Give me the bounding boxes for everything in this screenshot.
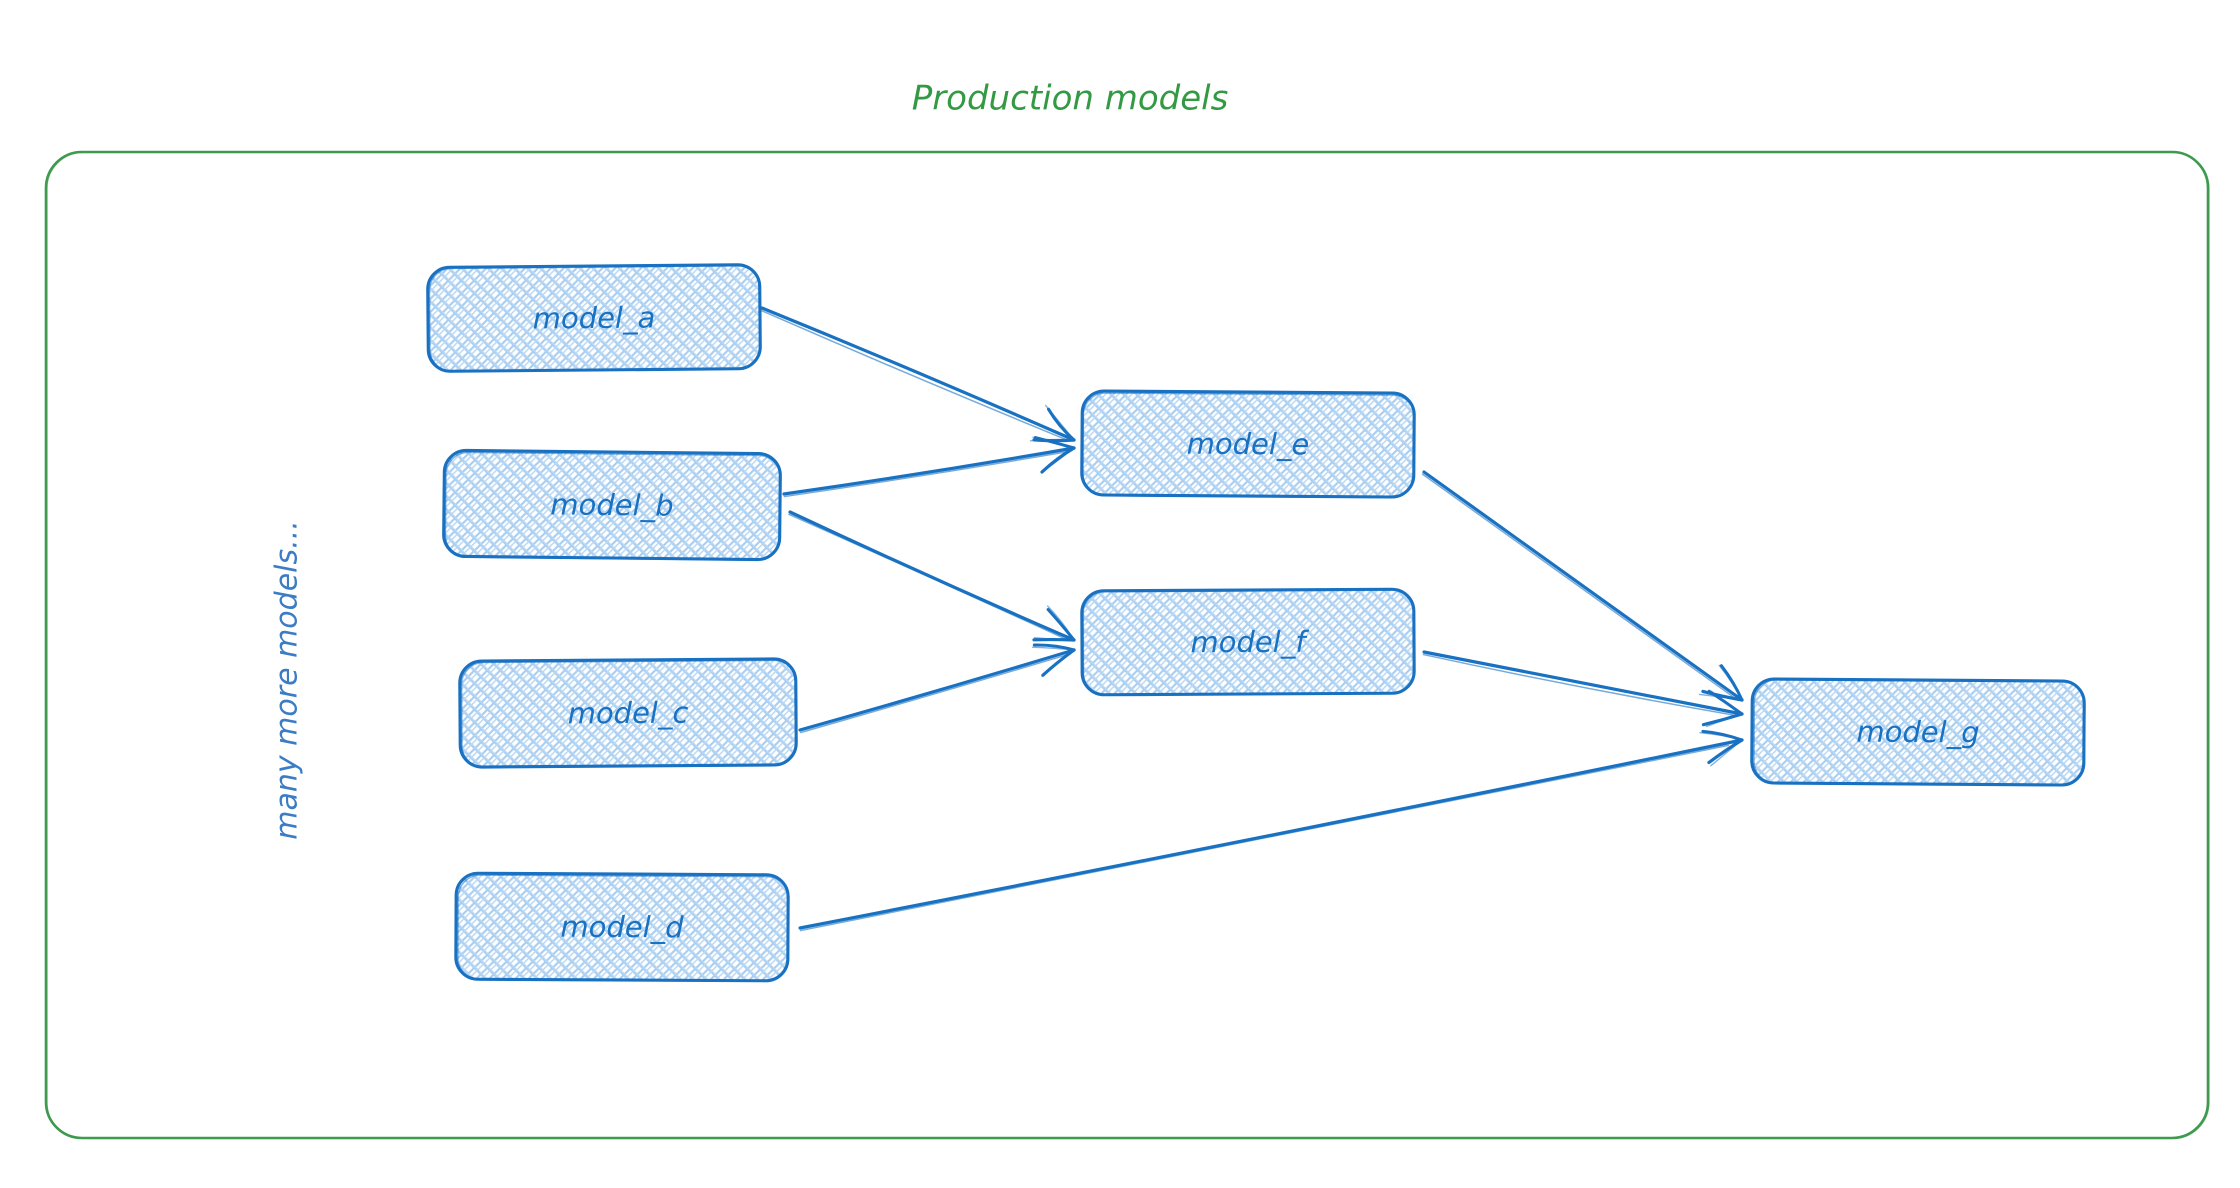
edge-shaft-twin [761,310,1068,440]
diagram-title: Production models [912,79,1229,119]
edge-shaft [784,448,1074,494]
edge-b-to-f [789,512,1074,640]
node-label-model_a: model_a [533,300,656,335]
edge-shaft-twin [801,745,1729,930]
node-model_f[interactable]: model_f [1082,589,1415,695]
node-label-model_g: model_g [1856,715,1979,750]
side-note-label: many more models... [270,520,305,839]
node-model_c[interactable]: model_c [460,659,797,768]
diagram-svg: model_amodel_bmodel_cmodel_dmodel_emodel… [0,0,2240,1188]
diagram-canvas: model_amodel_bmodel_cmodel_dmodel_emodel… [0,0,2240,1188]
edge-f-to-g [1424,652,1742,726]
edge-shaft [1424,652,1742,714]
node-label-model_c: model_c [568,696,689,731]
edge-arrowhead-twin [1707,714,1742,726]
node-model_g[interactable]: model_g [1752,679,2085,786]
edge-shaft-twin [789,514,1069,640]
edge-shaft-twin [801,654,1071,733]
edge-b-to-e [784,437,1074,496]
node-model_a[interactable]: model_a [428,265,761,372]
edge-a-to-e [761,308,1074,441]
edge-shaft [800,650,1074,730]
edge-shaft [762,308,1074,440]
node-model_d[interactable]: model_d [456,873,789,981]
edge-e-to-g [1422,472,1742,700]
edge-shaft [1424,472,1742,700]
node-label-model_b: model_b [550,487,674,522]
node-model_e[interactable]: model_e [1082,391,1415,498]
node-model_b[interactable]: model_b [443,450,781,560]
edge-c-to-f [800,645,1074,733]
edge-d-to-g [800,731,1742,930]
edge-shaft [790,512,1074,640]
node-label-model_e: model_e [1187,427,1310,462]
node-layer: model_amodel_bmodel_cmodel_dmodel_emodel… [428,265,2085,982]
node-label-model_f: model_f [1190,625,1309,660]
node-label-model_d: model_d [560,910,684,945]
edge-shaft [800,740,1742,928]
